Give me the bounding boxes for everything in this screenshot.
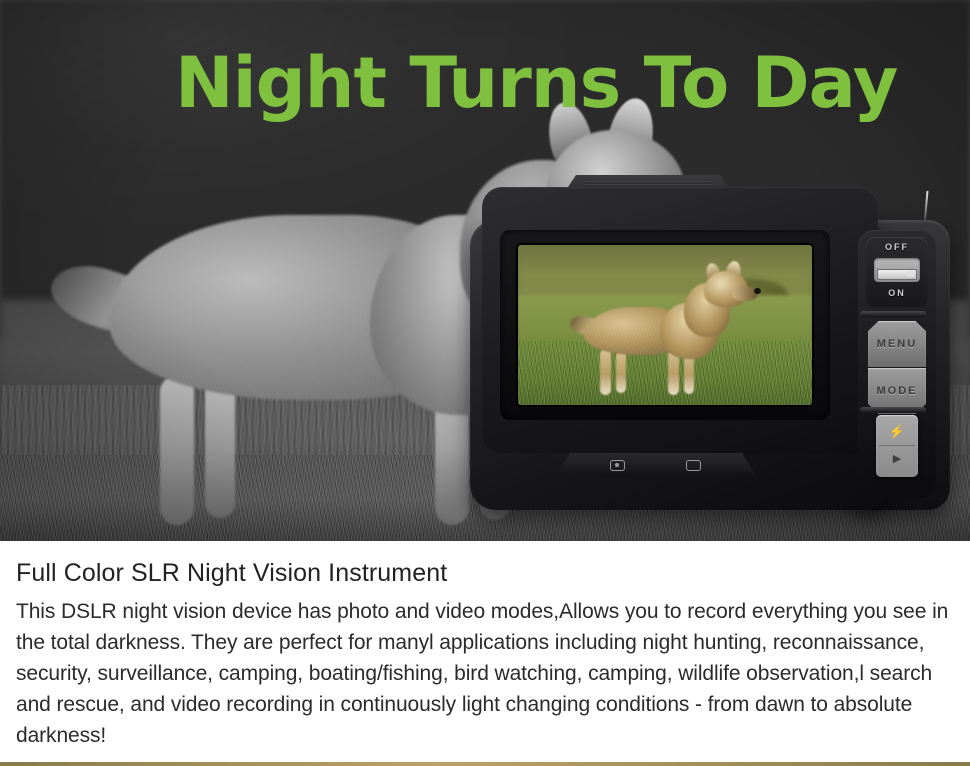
- product-description: This DSLR night vision device has photo …: [16, 596, 956, 751]
- screen-wolf-leg: [600, 349, 611, 395]
- night-vision-camera: Camera: [470, 175, 950, 510]
- photo-flash-icon[interactable]: ⚡: [876, 425, 918, 438]
- control-divider-lower: [860, 407, 926, 413]
- hero-banner: Night Turns To Day Camera: [0, 0, 970, 541]
- screen-wolf-leg: [616, 351, 626, 393]
- battery-indicator-icon: [610, 460, 625, 471]
- screen-wolf-nose: [754, 288, 761, 294]
- product-title: Full Color SLR Night Vision Instrument: [16, 559, 447, 588]
- card-slot-indicator-icon: [686, 460, 701, 471]
- control-divider: [860, 311, 926, 317]
- product-description-section: Full Color SLR Night Vision Instrument T…: [0, 541, 970, 766]
- camera-display-screen[interactable]: [518, 245, 812, 405]
- power-off-label: OFF: [866, 242, 928, 252]
- product-banner-page: Night Turns To Day Camera: [0, 0, 970, 766]
- menu-button[interactable]: MENU: [868, 321, 926, 367]
- power-switch-knob[interactable]: [877, 269, 917, 280]
- power-on-label: ON: [866, 288, 928, 298]
- video-record-icon[interactable]: ▶: [876, 454, 918, 465]
- capture-pad-divider: [879, 445, 915, 446]
- hero-headline: Night Turns To Day: [175, 48, 897, 118]
- bottom-divider: [0, 762, 970, 766]
- camera-indicator-row: [556, 458, 756, 472]
